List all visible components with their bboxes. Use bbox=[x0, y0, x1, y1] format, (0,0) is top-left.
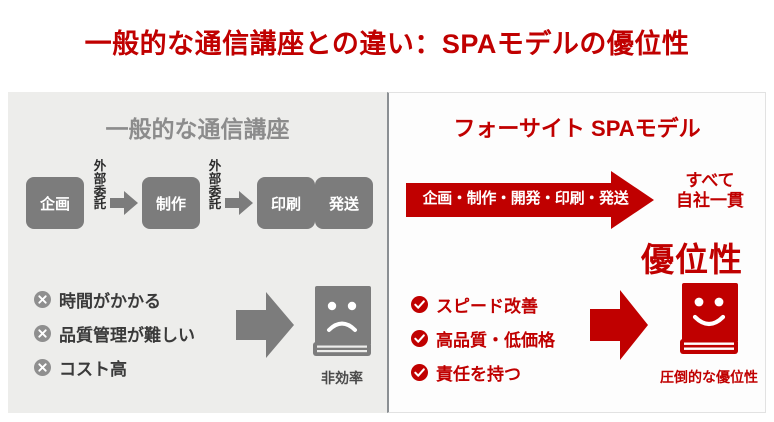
x-circle-icon bbox=[34, 359, 51, 376]
all-inhouse-label: すべて 自社一貫 bbox=[655, 171, 765, 211]
spa-benefits-list: スピード改善 高品質・低価格 責任を持つ bbox=[411, 289, 611, 391]
happy-book-icon bbox=[676, 346, 742, 363]
x-circle-icon bbox=[34, 291, 51, 308]
connector-label-char: 外 bbox=[92, 160, 108, 173]
check-circle-icon bbox=[411, 330, 428, 347]
left-panel-heading: 一般的な通信講座 bbox=[8, 110, 387, 144]
list-item-label: コスト高 bbox=[59, 355, 127, 380]
result-caption: 非効率 bbox=[304, 368, 380, 388]
connector-label-char: 託 bbox=[207, 198, 223, 211]
all-inhouse-line-1: すべて bbox=[655, 171, 765, 191]
connector-label-char: 部 bbox=[207, 173, 223, 186]
flow-step-planning: 企画 bbox=[26, 177, 84, 229]
benefit-arrow-icon bbox=[590, 290, 648, 360]
advantage-headline: 優位性 bbox=[617, 233, 767, 281]
list-item-label: 責任を持つ bbox=[436, 360, 521, 385]
list-item: 高品質・低価格 bbox=[411, 323, 611, 354]
conventional-process-flow: 企画 外 部 委 託 制作 外 部 委 託 bbox=[8, 164, 387, 242]
list-item-label: 時間がかかる bbox=[59, 287, 161, 312]
right-panel-spa-model: フォーサイト SPAモデル 企画・制作・開発・印刷・発送 すべて 自社一貫 優位… bbox=[387, 92, 766, 413]
connector-label-outsource-1: 外 部 委 託 bbox=[92, 160, 108, 211]
flow-step-shipping: 発送 bbox=[315, 177, 373, 229]
list-item-label: スピード改善 bbox=[436, 292, 538, 317]
flow-step-printing: 印刷 bbox=[257, 177, 315, 229]
flow-step-production: 制作 bbox=[142, 177, 200, 229]
conventional-issues-list: 時間がかかる 品質管理が難しい コスト高 bbox=[34, 284, 254, 386]
list-item: コスト高 bbox=[34, 352, 254, 383]
list-item-label: 高品質・低価格 bbox=[436, 326, 555, 351]
flow-arrow-icon bbox=[225, 191, 253, 215]
inefficiency-result: 非効率 bbox=[304, 282, 380, 388]
list-item: 時間がかかる bbox=[34, 284, 254, 315]
spa-process-arrow: 企画・制作・開発・印刷・発送 bbox=[406, 171, 654, 229]
check-circle-icon bbox=[411, 364, 428, 381]
list-item: スピード改善 bbox=[411, 289, 611, 320]
connector-label-outsource-2: 外 部 委 託 bbox=[207, 160, 223, 211]
result-caption: 圧倒的な優位性 bbox=[655, 367, 763, 387]
all-inhouse-line-2: 自社一貫 bbox=[655, 191, 765, 211]
sad-book-icon bbox=[309, 347, 375, 364]
spa-process-arrow-label: 企画・制作・開発・印刷・発送 bbox=[418, 187, 633, 208]
connector-label-char: 託 bbox=[92, 198, 108, 211]
advantage-result: 圧倒的な優位性 bbox=[655, 279, 763, 387]
page-title: 一般的な通信講座との違い：SPAモデルの優位性 bbox=[0, 22, 774, 61]
flow-arrow-icon bbox=[110, 191, 138, 215]
list-item: 品質管理が難しい bbox=[34, 318, 254, 349]
result-arrow-icon bbox=[236, 292, 294, 358]
connector-label-char: 部 bbox=[92, 173, 108, 186]
x-circle-icon bbox=[34, 325, 51, 342]
list-item-label: 品質管理が難しい bbox=[59, 321, 195, 346]
right-panel-heading: フォーサイト SPAモデル bbox=[389, 111, 765, 143]
connector-label-char: 外 bbox=[207, 160, 223, 173]
list-item: 責任を持つ bbox=[411, 357, 611, 388]
left-panel-conventional: 一般的な通信講座 企画 外 部 委 託 制作 外 部 委 託 bbox=[8, 92, 387, 413]
slide-canvas: 一般的な通信講座との違い：SPAモデルの優位性 一般的な通信講座 企画 外 部 … bbox=[0, 0, 774, 422]
check-circle-icon bbox=[411, 296, 428, 313]
